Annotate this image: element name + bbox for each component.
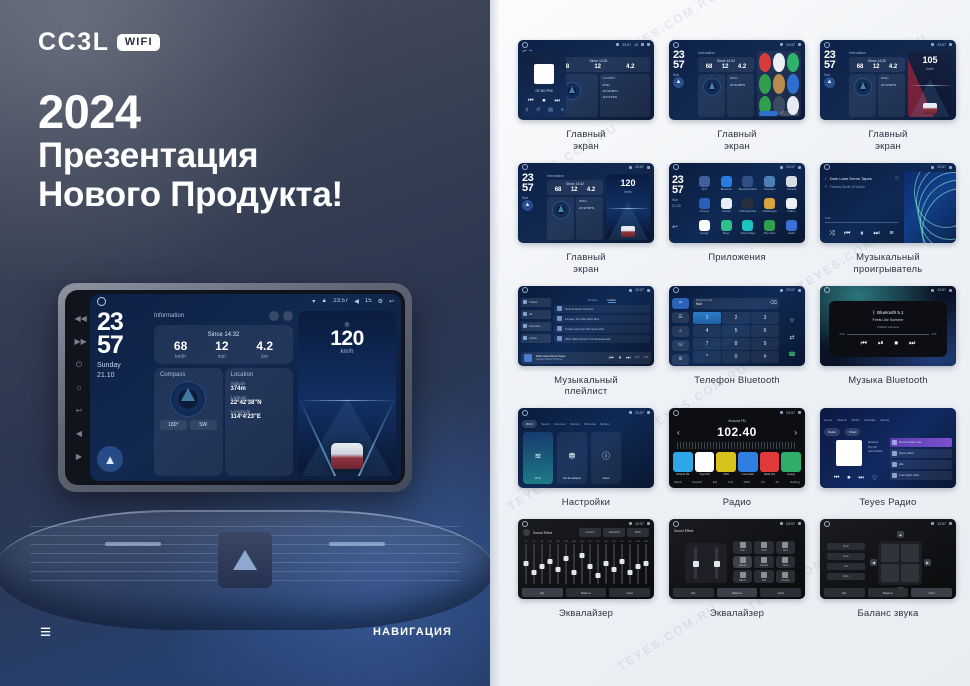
compass-card[interactable] <box>698 74 725 117</box>
equalizer-bands[interactable]: 3162941252503755007501K2K3K4K6K8K12K16K <box>524 541 648 584</box>
speaker-front-right[interactable] <box>901 544 919 562</box>
app-tile[interactable]: Music Player <box>739 220 758 240</box>
stop-icon[interactable]: ⏹ <box>847 475 850 482</box>
equalizer-band[interactable]: 6K <box>620 541 624 584</box>
prev-track-icon[interactable]: ⏮ <box>528 98 533 105</box>
playlist-items[interactable]: Recent Folder Groove Music SummerFantasy… <box>554 298 650 350</box>
radio-toolbar-item[interactable]: AF <box>775 480 779 484</box>
screenshot-equalizer-2[interactable]: 23:57 Sound Effect PopRockJazzClassicCus… <box>669 519 805 599</box>
settings-tab-personal[interactable]: Personal <box>584 422 596 426</box>
settings-cards[interactable]: ≋ Wi-Fi ⛃ Car Ext Adapter ⓘ About <box>523 432 649 484</box>
band-track[interactable] <box>645 544 647 584</box>
band-track[interactable] <box>549 544 551 584</box>
compass-card[interactable]: Compass 180° SW <box>154 368 223 476</box>
footer-tab-field[interactable]: Field <box>760 588 801 597</box>
teyes-radio-list[interactable]: Moscow Radio HitsDance WaveHitsLove Radi… <box>890 438 952 484</box>
teyes-radio-controls[interactable]: ⏮ ⏹ ⏭ ♡ <box>834 475 877 482</box>
equalizer-band[interactable]: 8K <box>628 541 632 584</box>
screenshot-home-road[interactable]: 23:57 23 57 Sun ▲ <box>518 163 654 243</box>
equalizer-preset[interactable]: Standard <box>603 528 625 537</box>
app-tile[interactable]: Bluetooth <box>717 176 736 196</box>
settings-card-car-adapter[interactable]: ⛃ Car Ext Adapter <box>557 432 587 484</box>
playlist-sidebar-item[interactable]: All <box>521 310 551 319</box>
band-thumb[interactable] <box>548 559 553 564</box>
page-indicator-2[interactable] <box>780 111 799 116</box>
sound-effect-tile[interactable]: Jazz <box>776 541 795 554</box>
screenshot-home-music[interactable]: 23:57 15 23 57 Sun 21.10 <box>518 40 654 120</box>
teyes-radio-tab[interactable]: Home <box>824 418 832 422</box>
sound-effect-tile[interactable]: Soft <box>754 570 773 583</box>
sound-effect-tile[interactable]: Vocal <box>776 556 795 569</box>
footer-tab-balance[interactable]: Balance <box>717 588 758 597</box>
screenshot-bluetooth-phone[interactable]: 23:57 ⌗ ☰ ⌕ ☏ ⚙ Bluetooth D <box>669 286 805 366</box>
radio-toolbar-item[interactable]: List <box>728 480 733 484</box>
footer-tab-field[interactable]: Field <box>911 588 952 597</box>
band-track[interactable] <box>533 544 535 584</box>
phone-icon[interactable]: ☎ <box>788 351 795 358</box>
app-icon[interactable] <box>699 176 710 187</box>
equalizer-presets[interactable]: Custom Standard Rock <box>579 528 649 537</box>
dial-key[interactable]: 6 <box>751 325 779 337</box>
equalizer-band[interactable]: 3K <box>604 541 608 584</box>
app-tile[interactable]: DVR Recorder <box>739 198 758 218</box>
wifi-icon <box>629 522 632 525</box>
teyes-radio-tabs[interactable]: HomeSearchMusicPodcastLibrary <box>824 418 952 422</box>
expand-icon[interactable] <box>283 311 293 321</box>
head-unit-side-buttons[interactable]: ◀◀ ▶▶ ⏻ ⌂ ↩ ◀ ▶ <box>68 294 90 481</box>
app-icon[interactable] <box>742 198 753 209</box>
band-thumb[interactable] <box>636 564 641 569</box>
teyes-radio-list-item[interactable]: Hits <box>890 460 952 469</box>
treble-slider[interactable] <box>715 547 718 579</box>
teyes-chip-chart[interactable]: Chart <box>845 428 860 436</box>
band-thumb[interactable] <box>588 564 593 569</box>
prev-track-icon[interactable]: ⏮ <box>844 230 850 238</box>
app-icon-youtube[interactable] <box>759 53 771 72</box>
radio-tuning-scale[interactable] <box>677 442 797 449</box>
app-icon[interactable] <box>764 198 775 209</box>
head-unit-screen[interactable]: ▾ ▲ 23:57 ◀ 15 ⚙ ↩ 23 57 <box>90 294 401 481</box>
band-thumb[interactable] <box>540 564 545 569</box>
footer-tab-eq[interactable]: EQ <box>824 588 865 597</box>
dialer-input-field[interactable]: Bluetooth Dial Null <box>693 298 779 309</box>
radio-preset[interactable]: Radio Pop <box>760 452 780 472</box>
equalizer-band[interactable]: 4K <box>612 541 616 584</box>
sound-effect-tile[interactable]: Rock <box>754 541 773 554</box>
next-track-icon[interactable]: ▶▶ <box>75 337 84 346</box>
equalizer-band[interactable]: 16K <box>644 541 648 584</box>
app-tile[interactable]: FileManager <box>760 198 779 218</box>
footer-tab-eq[interactable]: EQ <box>522 588 563 597</box>
next-track-icon[interactable]: ⏭ <box>858 475 863 482</box>
next-track-icon[interactable]: ⏭ <box>873 230 879 238</box>
driving-view-panel[interactable]: 105 km/h <box>908 51 952 117</box>
teyes-radio-tab[interactable]: Search <box>837 418 847 422</box>
playlist-tab-recent[interactable]: Recent <box>588 298 598 303</box>
teyes-radio-list-item[interactable]: Moscow Radio Hits <box>890 438 952 447</box>
refresh-icon[interactable] <box>269 311 279 321</box>
screenshot-home-apps[interactable]: 23:57 23 57 Sun ▲ <box>669 40 805 120</box>
equalizer-icon[interactable]: ▤ <box>548 107 553 113</box>
band-thumb[interactable] <box>532 570 537 575</box>
app-icon[interactable] <box>699 198 710 209</box>
app-icon-chrome[interactable] <box>773 53 785 72</box>
location-card[interactable]: 374m 22°42'38"N <box>878 74 905 117</box>
bt-player-controls[interactable]: ⏮ ⏯ ⏹ ⏭ <box>861 340 916 348</box>
equalizer-band[interactable]: 31 <box>524 541 528 584</box>
app-icon[interactable] <box>721 176 732 187</box>
band-track[interactable] <box>589 544 591 584</box>
radio-toolbar[interactable]: BandSearchEQListRDSTAAFSetting <box>669 477 805 487</box>
equalizer-2-footer-tabs[interactable]: EQ Balance Field <box>673 588 801 597</box>
band-track[interactable] <box>629 544 631 584</box>
app-tile[interactable]: Maps <box>717 220 736 240</box>
playlist-tab-folder[interactable]: Folder <box>608 298 617 303</box>
radio-toolbar-item[interactable]: TA <box>761 480 765 484</box>
dial-key[interactable]: 8 <box>722 338 750 350</box>
sound-effect-tile[interactable]: Country <box>776 570 795 583</box>
radio-presets[interactable]: Moscow FMTeyes FMDFMLove RadioRadio PopE… <box>673 452 801 472</box>
band-track[interactable] <box>621 544 623 584</box>
screenshot-settings[interactable]: 23:57 Wi-Fi Sound Common Factory Persona… <box>518 408 654 488</box>
progress-bar[interactable] <box>847 334 928 335</box>
balance-button[interactable]: Front <box>827 543 865 550</box>
teyes-radio-tab[interactable]: Music <box>852 418 860 422</box>
progress-bar[interactable] <box>825 222 898 223</box>
settings-tab-wifi[interactable]: Wi-Fi <box>522 420 537 428</box>
screenshot-radio[interactable]: 23:57 Moscow FM ‹ 102.40 › Moscow FMTeye… <box>669 408 805 488</box>
equalizer-preset[interactable]: Custom <box>579 528 601 537</box>
favorite-icon[interactable]: ♡ <box>872 475 877 482</box>
band-track[interactable] <box>581 544 583 584</box>
next-track-icon[interactable]: ⏭ <box>626 355 631 361</box>
settings-tab-common[interactable]: Common <box>554 422 566 426</box>
location-card[interactable]: 374m 22°42'38"N <box>727 74 754 117</box>
radio-preset[interactable]: DFM <box>716 452 736 472</box>
dial-key[interactable]: # <box>751 351 779 363</box>
dial-key[interactable]: 1 <box>693 312 721 324</box>
logo-brand-text: CC3L <box>38 30 110 55</box>
teyes-radio-list-item[interactable]: Love Radio Chart <box>890 471 952 480</box>
prev-track-icon[interactable]: ⏮ <box>861 340 867 348</box>
speaker-rear-left[interactable] <box>881 564 899 582</box>
apps-grid[interactable]: AUXBluetoothBluetooth MusicCalculatorCam… <box>695 176 801 240</box>
next-track-icon[interactable]: ⏭ <box>909 340 915 348</box>
footer-tab-field[interactable]: Field <box>609 588 650 597</box>
settings-tab-factory[interactable]: Factory <box>570 422 580 426</box>
band-track[interactable] <box>597 544 599 584</box>
compass-card[interactable] <box>849 74 876 117</box>
navigation-shortcut-button[interactable]: ▲ <box>522 200 533 211</box>
equalizer-band[interactable]: 375 <box>564 541 568 584</box>
driving-view-panel[interactable]: ◎ 120 km/h <box>298 311 396 476</box>
navigation-shortcut-button[interactable]: ▲ <box>97 446 123 472</box>
power-icon[interactable]: ⏻ <box>75 360 84 369</box>
trip-info-card[interactable]: Since 14:32 68 12 4.2 <box>698 57 754 72</box>
balance-button[interactable]: Left <box>827 563 865 570</box>
band-thumb[interactable] <box>604 561 609 566</box>
playlist-track-row[interactable]: Wait I Best Actual 2 Cici Release Mp <box>554 335 650 343</box>
app-tile[interactable]: Calculator <box>760 176 779 196</box>
settings-icon[interactable]: ⚙ <box>672 354 689 365</box>
navigation-shortcut-button[interactable]: ▲ <box>824 77 835 88</box>
back-icon[interactable]: ↩ <box>672 223 694 231</box>
band-thumb[interactable] <box>620 559 625 564</box>
screenshot-music-player[interactable]: 23:57 1 Dark Lane Demo Tapes ♡ 2 Fantasy… <box>820 163 956 243</box>
app-icon[interactable] <box>786 198 797 209</box>
prev-track-icon[interactable]: ⏮ <box>834 475 839 482</box>
equalizer-band[interactable]: 94 <box>540 541 544 584</box>
sound-effect-tile[interactable]: Dance <box>733 570 752 583</box>
teyes-radio-list-item[interactable]: Dance Wave <box>890 449 952 458</box>
footer-tab-balance[interactable]: Balance <box>566 588 607 597</box>
stop-icon[interactable]: ⏹ <box>895 340 899 348</box>
teyes-radio-tab[interactable]: Podcast <box>864 418 875 422</box>
radio-toolbar-item[interactable]: RDS <box>744 480 750 484</box>
app-tile[interactable]: Play Store <box>760 220 779 240</box>
dial-key[interactable]: 3 <box>751 312 779 324</box>
balance-buttons[interactable]: FrontRearLeftRight <box>827 543 865 583</box>
location-card[interactable]: Location Altitude 374m Latitude 22°42'38… <box>225 368 294 476</box>
location-card[interactable]: Location 374m 22°42'38"N 114°4'23"E <box>600 74 651 117</box>
swap-icon[interactable]: ⇄ <box>789 334 794 341</box>
play-pause-icon[interactable]: ⏯ <box>878 340 884 348</box>
playlist-track-row[interactable]: Groove Music Summer <box>554 305 650 313</box>
band-thumb[interactable] <box>644 561 649 566</box>
playlist-track-row[interactable]: Fantasy Hot Play Dark Mus <box>554 315 650 323</box>
equalizer-band[interactable]: 500 <box>572 541 576 584</box>
dial-key[interactable]: 5 <box>722 325 750 337</box>
app-icon-bluetooth[interactable] <box>787 74 799 93</box>
radio-preset[interactable]: Energy <box>781 452 801 472</box>
playlist-sidebar-item[interactable]: Favorites <box>521 322 551 331</box>
band-track[interactable] <box>637 544 639 584</box>
dial-key[interactable]: 9 <box>751 338 779 350</box>
screenshot-teyes-radio[interactable]: HomeSearchMusicPodcastLibrary Radio Char… <box>820 408 956 488</box>
star-icon[interactable]: ☆ <box>789 317 794 324</box>
trip-info-card[interactable]: Since 14:32 68 km/h 12 min <box>154 325 293 364</box>
chevron-up-icon[interactable]: ▲ <box>897 531 904 538</box>
chevron-right-icon[interactable]: › <box>794 428 797 437</box>
sound-effect-tile[interactable]: Classic <box>733 556 752 569</box>
radio-toolbar-item[interactable]: Search <box>692 480 702 484</box>
band-thumb[interactable] <box>628 570 633 575</box>
app-tile[interactable]: Contact <box>717 198 736 218</box>
band-thumb[interactable] <box>612 567 617 572</box>
dial-key[interactable]: 7 <box>693 338 721 350</box>
driving-view-panel[interactable]: 120 km/h <box>606 174 650 240</box>
shuffle-icon[interactable]: ⤨ <box>524 107 528 113</box>
next-track-icon[interactable]: ⏭ <box>555 98 560 105</box>
playlist-now-playing-bar[interactable]: Dark Lane Demo Tapes Fantasy Studio Of A… <box>521 352 651 364</box>
balance-button[interactable]: Rear <box>827 553 865 560</box>
app-tile[interactable]: Bluetooth Music <box>739 176 758 196</box>
dialer-sidebar[interactable]: ⌗ ☰ ⌕ ☏ ⚙ <box>672 298 689 366</box>
equalizer-footer-tabs[interactable]: EQ Balance Field <box>522 588 650 597</box>
speaker-front-left[interactable] <box>881 544 899 562</box>
playlist-track-row[interactable]: Tracks Clip Pop The Open Mus <box>554 325 650 333</box>
player-controls[interactable]: ⤨ ⏮ ⏸ ⏭ ≡ <box>824 230 898 238</box>
band-track[interactable] <box>573 544 575 584</box>
dialer-actions[interactable]: ☆ ⇄ ☎ <box>782 312 802 363</box>
trip-info-card[interactable]: Since 14:32 68 12 4.2 <box>849 57 905 72</box>
app-icon[interactable] <box>786 220 797 231</box>
speaker-rear-right[interactable] <box>901 564 919 582</box>
prev-track-icon[interactable]: ⏮ <box>609 355 614 361</box>
balance-button[interactable]: Right <box>827 573 865 580</box>
app-icon-spotify[interactable] <box>759 74 771 93</box>
dialpad-icon[interactable]: ⌗ <box>672 298 689 309</box>
settings-tab-system[interactable]: System <box>600 422 610 426</box>
app-icon[interactable] <box>742 176 753 187</box>
app-tile[interactable]: AUX <box>695 176 714 196</box>
balance-pad[interactable] <box>878 541 922 585</box>
radio-toolbar-item[interactable]: Band <box>674 480 681 484</box>
dialer-keypad[interactable]: 123456789*0# <box>693 312 779 363</box>
playlist-sidebar-item[interactable]: Tracks <box>521 298 551 307</box>
band-thumb[interactable] <box>572 570 577 575</box>
back-icon[interactable]: ↩ <box>75 406 84 415</box>
app-icon-maps[interactable] <box>787 53 799 72</box>
app-icon[interactable] <box>742 220 753 231</box>
apps-clock-column: 23 57 Sun 21.10 ↩ <box>672 176 694 231</box>
equalizer-preset[interactable]: Rock <box>627 528 649 537</box>
footer-tab-eq[interactable]: EQ <box>673 588 714 597</box>
screenshot-bluetooth-music[interactable]: 23:57 ᛒ Bluetooth 5.1 Feels Like Summer … <box>820 286 956 366</box>
chevron-left-icon[interactable]: ◀ <box>870 559 877 566</box>
app-tile[interactable]: Chrome <box>695 198 714 218</box>
search-icon[interactable]: ⌕ <box>672 326 689 337</box>
screenshot-home-road-red[interactable]: 23:57 23 57 Sun ▲ <box>820 40 956 120</box>
hazard-light-button[interactable] <box>218 532 272 588</box>
radio-preset[interactable]: Love Radio <box>738 452 758 472</box>
sound-effect-tile[interactable]: Custom <box>754 556 773 569</box>
app-tile[interactable]: Camera <box>782 176 801 196</box>
equalizer-band[interactable]: 62 <box>532 541 536 584</box>
band-track[interactable] <box>613 544 615 584</box>
radio-preset[interactable]: Moscow FM <box>673 452 693 472</box>
radio-toolbar-item[interactable]: Setting <box>790 480 799 484</box>
app-icon[interactable] <box>786 176 797 187</box>
app-tile[interactable]: Gallery <box>782 198 801 218</box>
shuffle-icon[interactable]: ⤨ <box>829 230 835 238</box>
band-track[interactable] <box>565 544 567 584</box>
band-thumb[interactable] <box>556 567 561 572</box>
equalizer-band[interactable]: 2K <box>596 541 600 584</box>
balance-footer-tabs[interactable]: EQ Balance Field <box>824 588 952 597</box>
bass-slider[interactable] <box>694 547 697 579</box>
favorite-icon[interactable]: ♡ <box>895 176 899 182</box>
pause-icon[interactable]: ⏸ <box>619 355 622 361</box>
equalizer-band[interactable]: 12K <box>636 541 640 584</box>
volume-up-icon[interactable]: ▶ <box>75 452 84 461</box>
mini-clock-weekday: Sun <box>824 73 846 78</box>
equalizer-band[interactable]: 1K <box>588 541 592 584</box>
screenshot-sound-balance[interactable]: 23:57 FrontRearLeftRight ▲ ▼ <box>820 519 956 599</box>
settings-card-wifi[interactable]: ≋ Wi-Fi <box>523 432 553 484</box>
band-thumb[interactable] <box>524 561 529 566</box>
screenshot-apps[interactable]: 23:57 23 57 Sun 21.10 ↩ AUXBluetoothBlue… <box>669 163 805 243</box>
statusbar-home-icon[interactable] <box>97 297 106 306</box>
playlist-sidebar-item[interactable]: Artists <box>521 334 551 343</box>
statusbar-gear-icon[interactable]: ⚙ <box>378 298 383 305</box>
app-icon-contacts[interactable] <box>773 74 785 93</box>
app-icon[interactable] <box>699 220 710 231</box>
sound-effect-tile[interactable]: Pop <box>733 541 752 554</box>
radio-toolbar-item[interactable]: EQ <box>713 480 717 484</box>
teyes-radio-chips[interactable]: Radio Chart <box>824 428 952 436</box>
grid-cell: 23:57 FrontRearLeftRight ▲ ▼ <box>820 519 956 620</box>
app-tile[interactable]: Google <box>695 220 714 240</box>
band-thumb[interactable] <box>596 573 601 578</box>
call-history-icon[interactable]: ☏ <box>672 340 689 351</box>
location-card[interactable]: 374m 22°42'38"N <box>576 197 603 240</box>
apps-widget-panel[interactable] <box>757 51 801 117</box>
backspace-icon[interactable]: ⌫ <box>770 300 777 306</box>
settings-tabs[interactable]: Wi-Fi Sound Common Factory Personal Syst… <box>522 420 650 428</box>
dial-key[interactable]: 0 <box>722 351 750 363</box>
band-track[interactable] <box>605 544 607 584</box>
volume-down-icon[interactable]: ◀ <box>75 429 84 438</box>
bass-treble-sliders[interactable] <box>685 543 727 583</box>
dial-key[interactable]: 2 <box>722 312 750 324</box>
pause-icon[interactable]: ⏹ <box>542 98 545 105</box>
app-icon[interactable] <box>764 176 775 187</box>
radio-preset[interactable]: Teyes FM <box>695 452 715 472</box>
home-icon[interactable]: ⌂ <box>75 383 84 392</box>
equalizer-band[interactable]: 750 <box>580 541 584 584</box>
chevron-right-icon[interactable]: ▶ <box>924 559 931 566</box>
trip-info-card[interactable]: Since 14:32 68 12 4.2 <box>547 180 603 195</box>
music-widget-panel[interactable]: 07:50 PM ⏮ ⏹ ⏭ ⤨ ↺ ▤ <box>522 51 566 117</box>
app-icon[interactable] <box>721 198 732 209</box>
band-track[interactable] <box>525 544 527 584</box>
dial-key[interactable]: 4 <box>693 325 721 337</box>
page-indicator-1[interactable] <box>759 111 778 116</box>
app-icon[interactable] <box>721 220 732 231</box>
screenshot-playlist[interactable]: 23:57 TracksAllFavoritesArtists Recent F… <box>518 286 654 366</box>
footer-tab-balance[interactable]: Balance <box>868 588 909 597</box>
navigation-shortcut-button[interactable]: ▲ <box>673 77 684 88</box>
screenshot-equalizer[interactable]: 23:57 Sound Effect Custom Standard Rock <box>518 519 654 599</box>
now-playing-artist: Fantasy Studio Of Album <box>536 358 565 361</box>
band-thumb[interactable] <box>564 556 569 561</box>
prev-track-icon[interactable]: ◀◀ <box>75 314 84 323</box>
equalizer-band[interactable]: 250 <box>556 541 560 584</box>
settings-tab-sound[interactable]: Sound <box>541 422 550 426</box>
band-track[interactable] <box>541 544 543 584</box>
list-icon[interactable]: ≡ <box>889 230 893 237</box>
dial-key[interactable]: * <box>693 351 721 363</box>
band-thumb[interactable] <box>580 553 585 558</box>
compass-card[interactable] <box>547 197 574 240</box>
list-icon[interactable]: ≡ <box>561 107 564 113</box>
trip-stat: 68 <box>555 187 562 193</box>
app-tile[interactable]: Radio <box>782 220 801 240</box>
band-track[interactable] <box>557 544 559 584</box>
sound-effect-presets[interactable]: PopRockJazzClassicCustomVocalDanceSoftCo… <box>733 541 795 583</box>
statusbar-back-icon[interactable]: ↩ <box>389 298 394 305</box>
app-icon[interactable] <box>764 220 775 231</box>
playlist-sidebar[interactable]: TracksAllFavoritesArtists <box>521 298 551 346</box>
teyes-radio-tab[interactable]: Library <box>880 418 889 422</box>
settings-card-about[interactable]: ⓘ About <box>591 432 621 484</box>
repeat-icon[interactable]: ↺ <box>536 107 540 113</box>
teyes-chip-radio[interactable]: Radio <box>824 428 840 436</box>
pause-icon[interactable]: ⏸ <box>860 230 864 238</box>
equalizer-band[interactable]: 125 <box>548 541 552 584</box>
contacts-icon[interactable]: ☰ <box>672 312 689 323</box>
